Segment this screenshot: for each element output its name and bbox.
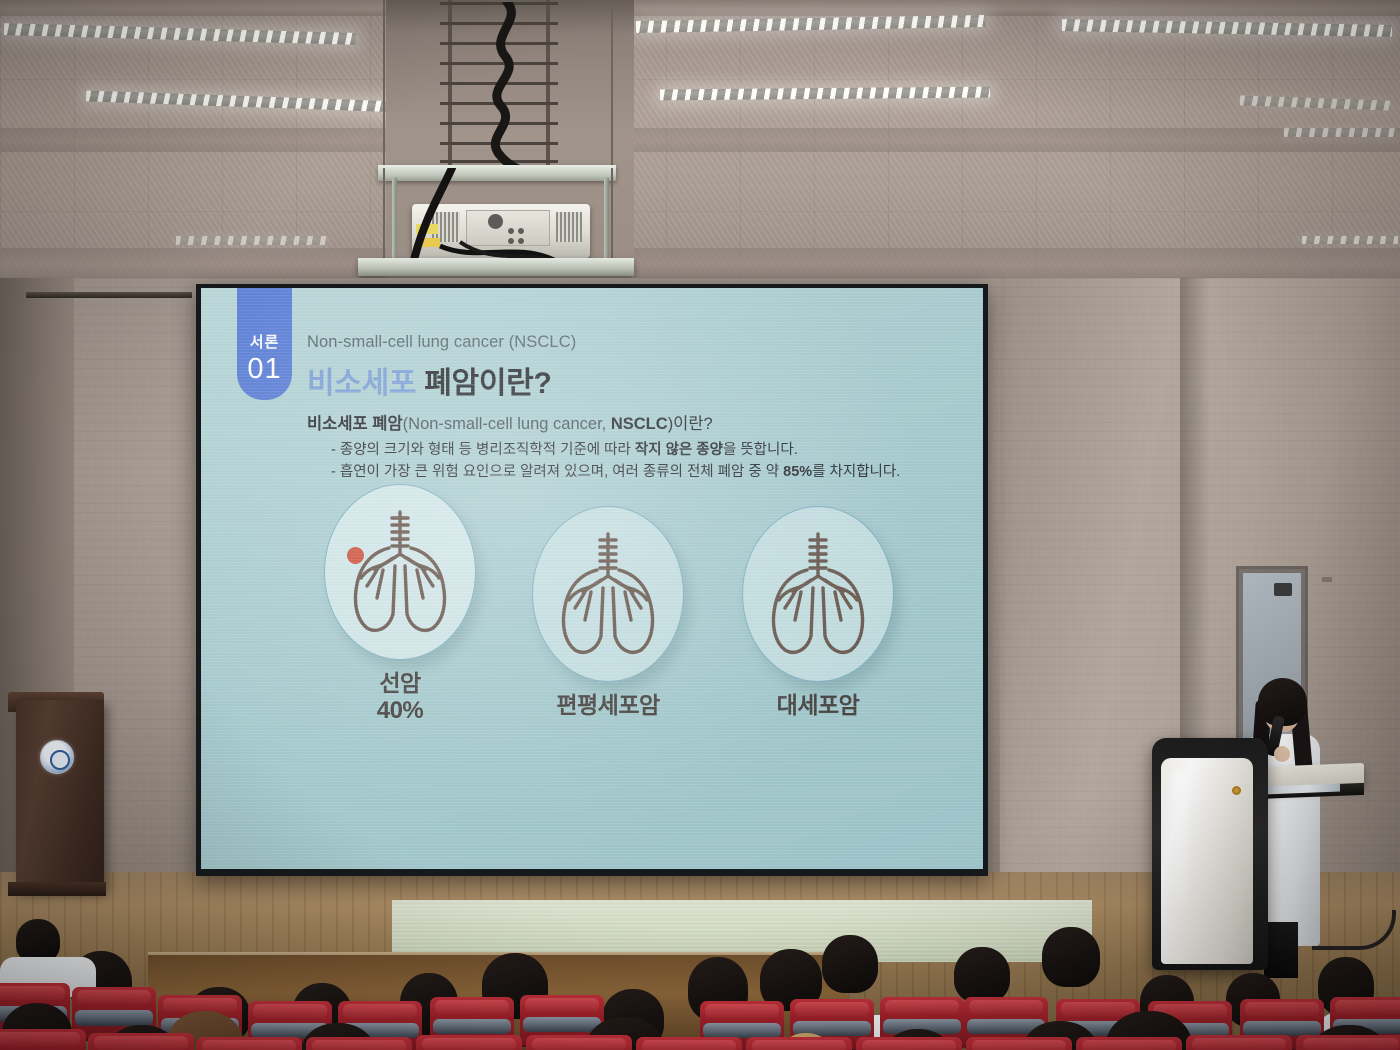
lung-card-largecell: 대세포암 xyxy=(735,506,901,719)
auditorium-seat[interactable] xyxy=(966,1037,1072,1050)
auditorium-seat[interactable] xyxy=(306,1037,412,1050)
lung-card-label: 편평세포암 xyxy=(525,692,691,719)
body-question-paren: (Non-small-cell lung cancer, xyxy=(403,415,611,433)
ceiling-band-low xyxy=(0,248,1400,278)
lung-oval-frame xyxy=(742,506,894,682)
body-question-bold: 비소세포 폐암 xyxy=(307,415,403,433)
ceiling-light-strip xyxy=(176,236,326,245)
door-sensor-icon xyxy=(1274,583,1292,596)
hanger-wire xyxy=(611,0,613,168)
auditorium-seat[interactable] xyxy=(856,1037,962,1050)
lung-card-squamous: 편평세포암 xyxy=(525,506,691,719)
lung-oval-frame xyxy=(324,484,476,660)
presenter-hand xyxy=(1274,746,1290,762)
projection-screen[interactable]: 서론 01 Non-small-cell lung cancer (NSCLC)… xyxy=(196,284,988,876)
audience-head xyxy=(822,935,878,993)
lung-icon xyxy=(341,508,459,636)
bullet-bold: 85% xyxy=(783,464,812,480)
lung-card-label: 선암 xyxy=(317,670,483,697)
lung-card-adenocarcinoma: 선암 40% xyxy=(317,484,483,725)
ceiling-light-strip xyxy=(1302,236,1398,244)
university-emblem-icon xyxy=(40,740,74,774)
wooden-lectern[interactable] xyxy=(16,700,104,892)
projector-power-cable xyxy=(455,2,547,172)
section-tab-kr-label: 서론 xyxy=(250,331,280,352)
wall-mark xyxy=(1322,577,1332,582)
auditorium-seat[interactable] xyxy=(1076,1037,1182,1050)
lung-type-cards: 선암 40% xyxy=(201,484,983,774)
podium-highlight xyxy=(1172,770,1188,910)
podium-power-button[interactable] xyxy=(1232,786,1241,795)
auditorium-scene: 서론 01 Non-small-cell lung cancer (NSCLC)… xyxy=(0,0,1400,1050)
auditorium-seat[interactable] xyxy=(0,1029,86,1050)
lung-oval-frame xyxy=(532,506,684,682)
hanger-wire xyxy=(383,0,385,168)
lung-icon xyxy=(759,530,877,658)
slide-title-highlight: 비소세포 xyxy=(307,367,416,400)
auditorium-seat[interactable] xyxy=(416,1035,522,1050)
bullet-suffix: 를 차지합니다. xyxy=(812,464,900,480)
bullet-bold: 작지 않은 종양 xyxy=(635,442,723,458)
slide-title: 비소세포 폐암이란? xyxy=(307,358,551,402)
slide-eyebrow: Non-small-cell lung cancer (NSCLC) xyxy=(307,333,576,352)
tumor-marker-icon xyxy=(347,547,364,564)
audience-head xyxy=(1042,927,1100,987)
wooden-lectern-base xyxy=(8,882,106,896)
lung-card-label: 대세포암 xyxy=(735,692,901,719)
slide-bullet: - 흡연이 가장 큰 위험 요인으로 알려져 있으며, 여러 종류의 전체 폐암… xyxy=(331,460,900,481)
lung-icon xyxy=(549,530,667,658)
body-question-tail: )이란? xyxy=(668,415,713,433)
lung-card-percent: 40% xyxy=(317,697,483,725)
projector-lift-plate-lower xyxy=(358,258,634,276)
auditorium-seat[interactable] xyxy=(88,1033,194,1050)
ceiling-light-strip xyxy=(1284,128,1396,137)
bullet-suffix: 을 뜻합니다. xyxy=(723,442,798,458)
auditorium-seat[interactable] xyxy=(746,1037,852,1050)
slide-body-question: 비소세포 폐암(Non-small-cell lung cancer, NSCL… xyxy=(307,410,713,434)
slide-bullet: - 종양의 크기와 형태 등 병리조직학적 기준에 따라 작지 않은 종양을 뜻… xyxy=(331,438,798,459)
wall-rail xyxy=(26,292,192,298)
auditorium-seat[interactable] xyxy=(1186,1035,1292,1050)
audience-area xyxy=(0,905,1400,1050)
auditorium-seat[interactable] xyxy=(1296,1035,1400,1050)
bullet-prefix: - 흡연이 가장 큰 위험 요인으로 알려져 있으며, 여러 종류의 전체 폐암… xyxy=(331,464,783,480)
auditorium-seat[interactable] xyxy=(196,1037,302,1050)
presentation-slide: 서론 01 Non-small-cell lung cancer (NSCLC)… xyxy=(201,288,983,869)
auditorium-seat[interactable] xyxy=(526,1035,632,1050)
audience-head xyxy=(954,947,1010,1003)
ceiling-band-top xyxy=(0,0,1400,16)
body-question-abbr: NSCLC xyxy=(611,415,668,433)
auditorium-seat[interactable] xyxy=(636,1037,742,1050)
section-tab-number: 01 xyxy=(247,354,281,384)
section-tab: 서론 01 xyxy=(237,288,292,400)
ceiling-band-mid xyxy=(0,128,1400,152)
hanger-wire xyxy=(383,168,385,264)
slide-title-rest: 폐암이란? xyxy=(416,367,551,400)
bullet-prefix: - 종양의 크기와 형태 등 병리조직학적 기준에 따라 xyxy=(331,442,635,458)
